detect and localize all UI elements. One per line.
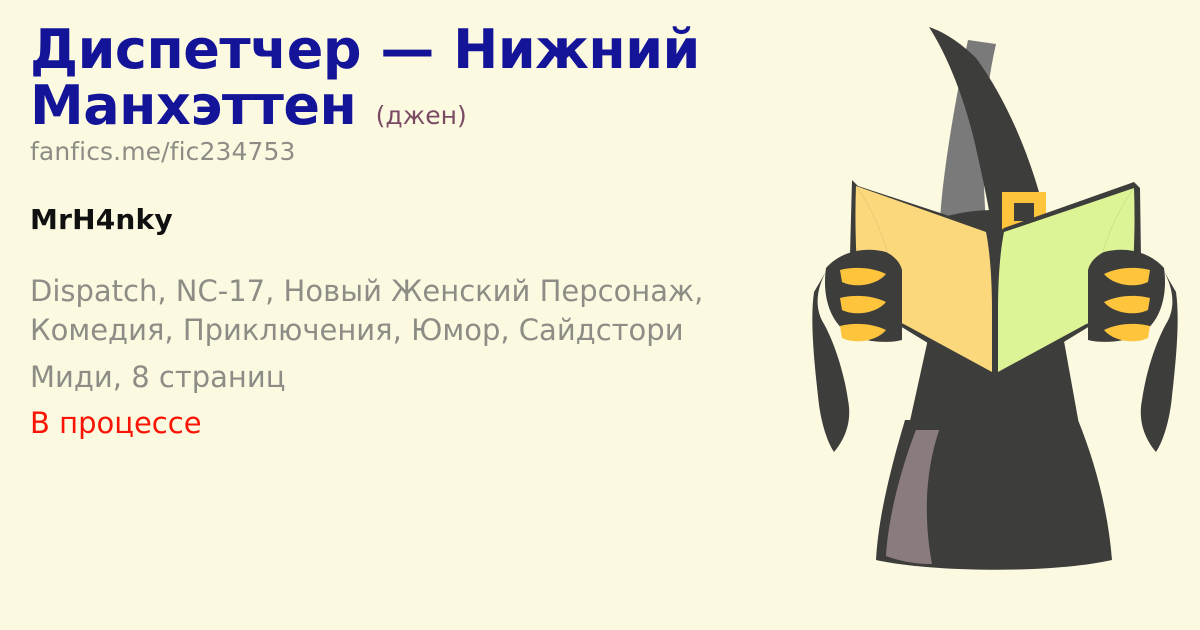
title-block: Диспетчер — Нижний Манхэттен (джен) bbox=[30, 22, 750, 133]
right-hand bbox=[1074, 250, 1178, 452]
status-badge: В процессе bbox=[30, 405, 790, 443]
story-url[interactable]: fanfics.me/fic234753 bbox=[30, 137, 296, 166]
page-title-text: Диспетчер — Нижний Манхэттен bbox=[30, 18, 700, 137]
witch-reading-book-illustration bbox=[790, 0, 1200, 630]
text-column: Диспетчер — Нижний Манхэттен (джен) fanf… bbox=[30, 0, 790, 630]
left-hand bbox=[812, 250, 916, 452]
story-format: Миди, 8 страниц bbox=[30, 359, 790, 397]
book-spine bbox=[992, 310, 998, 390]
story-tags: Dispatch, NC-17, Новый Женский Персонаж,… bbox=[30, 272, 780, 349]
metadata-block: Dispatch, NC-17, Новый Женский Персонаж,… bbox=[30, 272, 790, 443]
page-title: Диспетчер — Нижний Манхэттен (джен) bbox=[30, 22, 750, 133]
social-share-card: Диспетчер — Нижний Манхэттен (джен) fanf… bbox=[0, 0, 1200, 630]
story-category-label: (джен) bbox=[376, 101, 467, 130]
author-name[interactable]: MrH4nky bbox=[30, 203, 173, 236]
